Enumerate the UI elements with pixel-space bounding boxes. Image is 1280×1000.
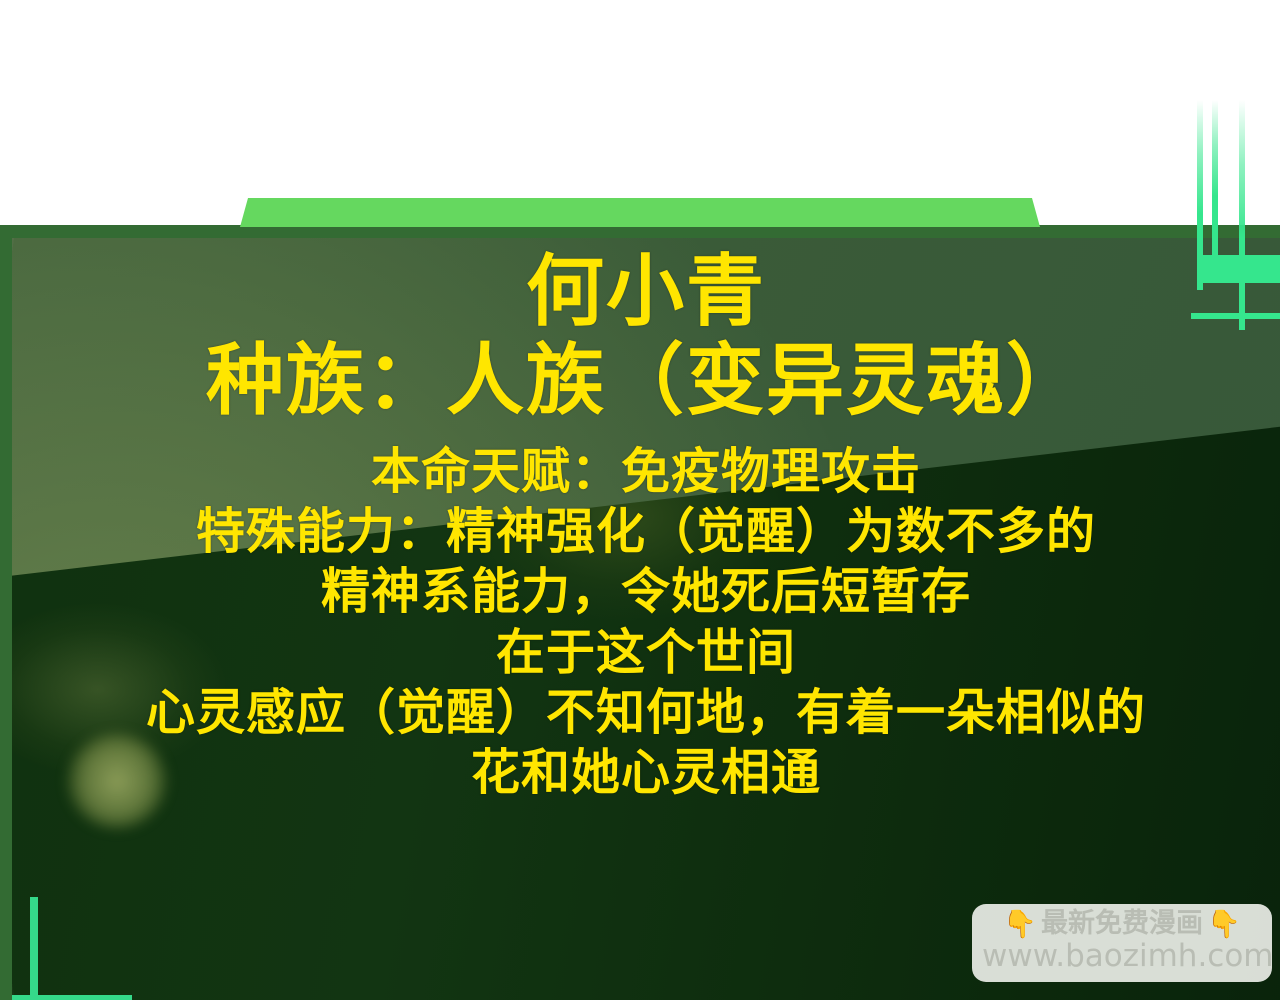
site-watermark[interactable]: 👇 最新免费漫画 👇 www.baozimh.com — [972, 904, 1272, 982]
ability-line-special-3: 在于这个世间 — [12, 623, 1280, 683]
card-text-stack: 何小青 种族：人族（变异灵魂） 本命天赋：免疫物理攻击 特殊能力：精神强化（觉醒… — [12, 238, 1280, 803]
pointing-down-hand-icon-left: 👇 — [1003, 911, 1037, 938]
ability-line-telepathy-1: 心灵感应（觉醒）不知何地，有着一朵相似的 — [12, 683, 1280, 743]
ability-line-innate-talent: 本命天赋：免疫物理攻击 — [12, 442, 1280, 502]
ability-line-special-1: 特殊能力：精神强化（觉醒）为数不多的 — [12, 502, 1280, 562]
accent-vertical-line — [30, 897, 38, 1000]
character-title-block: 何小青 种族：人族（变异灵魂） — [12, 238, 1280, 426]
watermark-label-row: 👇 最新免费漫画 👇 — [982, 909, 1262, 939]
watermark-url[interactable]: www.baozimh.com — [982, 939, 1262, 973]
decorative-vertical-line-2 — [1212, 100, 1218, 260]
decorative-horizontal-bar-thick — [1197, 255, 1280, 283]
comic-panel-page: 何小青 种族：人族（变异灵魂） 本命天赋：免疫物理攻击 特殊能力：精神强化（觉醒… — [0, 0, 1280, 1000]
character-race: 种族：人族（变异灵魂） — [12, 337, 1280, 426]
character-name: 何小青 — [12, 248, 1280, 337]
character-card-board: 何小青 种族：人族（变异灵魂） 本命天赋：免疫物理攻击 特殊能力：精神强化（觉醒… — [12, 238, 1280, 1000]
pointing-down-hand-icon-right: 👇 — [1207, 911, 1241, 938]
decorative-green-lines — [1180, 100, 1280, 330]
decorative-vertical-line-3 — [1239, 100, 1245, 330]
top-green-tab — [240, 198, 1040, 227]
decorative-horizontal-bar-thin — [1191, 313, 1280, 319]
character-abilities-block: 本命天赋：免疫物理攻击 特殊能力：精神强化（觉醒）为数不多的 精神系能力，令她死… — [12, 442, 1280, 804]
watermark-label: 最新免费漫画 — [1041, 909, 1203, 939]
ability-line-telepathy-2: 花和她心灵相通 — [12, 743, 1280, 803]
ability-line-special-2: 精神系能力，令她死后短暂存 — [12, 562, 1280, 622]
accent-horizontal-line — [12, 995, 132, 1000]
